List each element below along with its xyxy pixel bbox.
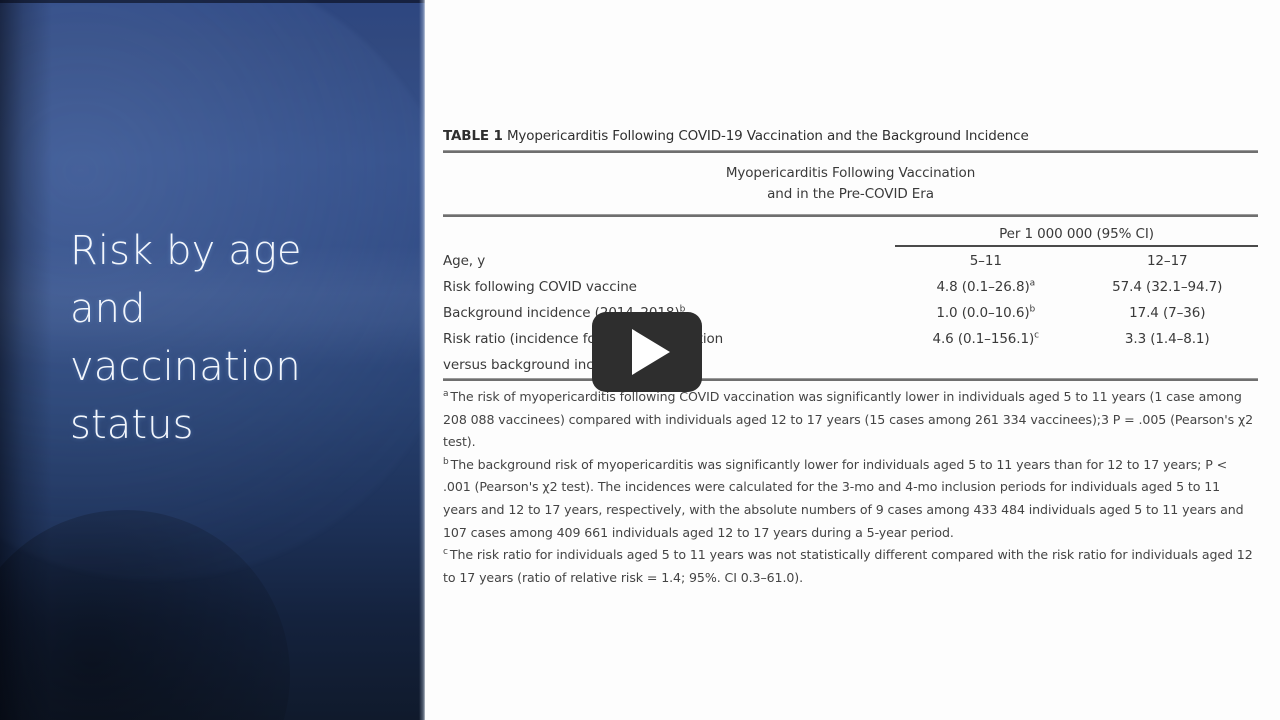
footnote-a-text: The risk of myopericarditis following CO…: [443, 389, 1253, 449]
cell-5-11: 4.6 (0.1–156.1)c: [895, 326, 1077, 352]
cell-12-17: 17.4 (7–36): [1077, 300, 1259, 326]
cell-value: 4.8 (0.1–26.8): [936, 279, 1029, 295]
footnote-mark-b: b: [443, 457, 449, 467]
cell-12-17: 57.4 (32.1–94.7): [1077, 274, 1259, 300]
table-row: Risk ratio (incidence following vaccinat…: [443, 326, 1258, 352]
table-caption-tag: TABLE 1: [443, 128, 503, 144]
cell-value: 17.4 (7–36): [1129, 305, 1205, 321]
table-group-header-row: Per 1 000 000 (95% CI): [443, 217, 1258, 248]
article-page-content: TABLE 1 Myopericarditis Following COVID-…: [443, 0, 1276, 720]
table-spanner-header: Myopericarditis Following Vaccination an…: [443, 153, 1258, 214]
cell-5-11: 1.0 (0.0–10.6)b: [895, 300, 1077, 326]
row-values-risk-following-vaccine: 4.8 (0.1–26.8)a 57.4 (32.1–94.7): [895, 274, 1258, 300]
slide-title-text: Risk by age and vaccination status: [70, 222, 370, 454]
group-header-label: Per 1 000 000 (95% CI): [895, 217, 1258, 245]
play-triangle-icon: [632, 329, 670, 375]
group-header-rule: [895, 245, 1258, 247]
results-table: TABLE 1 Myopericarditis Following COVID-…: [443, 126, 1258, 589]
table-row: Background incidence (2014–2018)b 1.0 (0…: [443, 300, 1258, 326]
cell-value: 4.6 (0.1–156.1): [932, 331, 1034, 347]
footnote-b: bThe background risk of myopericarditis …: [443, 454, 1258, 544]
row-values-risk-ratio: 4.6 (0.1–156.1)c 3.3 (1.4–8.1): [895, 326, 1258, 352]
footnote-ref-c: c: [1034, 331, 1039, 341]
column-header-5-11: 5–11: [895, 248, 1077, 274]
row-values-background-incidence: 1.0 (0.0–10.6)b 17.4 (7–36): [895, 300, 1258, 326]
group-header-spacer: [443, 217, 895, 248]
table-column-header-row: Age, y 5–11 12–17: [443, 248, 1258, 274]
table-caption-text: Myopericarditis Following COVID-19 Vacci…: [507, 128, 1029, 144]
table-row: Risk following COVID vaccine 4.8 (0.1–26…: [443, 274, 1258, 300]
row-values-empty: [895, 352, 1258, 378]
group-header-cell-wrap: Per 1 000 000 (95% CI): [895, 217, 1258, 248]
column-header-12-17: 12–17: [1077, 248, 1259, 274]
table-grid: Per 1 000 000 (95% CI) Age, y 5–11: [443, 217, 1258, 378]
table-footnotes: aThe risk of myopericarditis following C…: [443, 386, 1258, 589]
column-header-cells: 5–11 12–17: [895, 248, 1258, 274]
panel-top-rule: [0, 0, 425, 3]
table-row: versus background incidence): [443, 352, 1258, 378]
cell-12-17: 3.3 (1.4–8.1): [1077, 326, 1259, 352]
footnote-a: aThe risk of myopericarditis following C…: [443, 386, 1258, 454]
table-bottom-rule: [443, 378, 1258, 381]
footnote-ref-a: a: [1030, 279, 1035, 289]
table-caption: TABLE 1 Myopericarditis Following COVID-…: [443, 126, 1258, 150]
play-button[interactable]: [592, 312, 702, 392]
cell-value: 1.0 (0.0–10.6): [936, 305, 1029, 321]
video-player-frame[interactable]: Risk by age and vaccination status TABLE…: [0, 0, 1280, 720]
row-label-risk-following-vaccine: Risk following COVID vaccine: [443, 274, 895, 300]
spanner-line-1: Myopericarditis Following Vaccination: [443, 163, 1258, 184]
footnote-mark-a: a: [443, 389, 448, 399]
cell-value: 57.4 (32.1–94.7): [1112, 279, 1222, 295]
footnote-c: cThe risk ratio for individuals aged 5 t…: [443, 544, 1258, 589]
footnote-b-text: The background risk of myopericarditis w…: [443, 457, 1244, 540]
spanner-line-2: and in the Pre-COVID Era: [443, 184, 1258, 205]
cell-value: 3.3 (1.4–8.1): [1125, 331, 1210, 347]
stub-header: Age, y: [443, 248, 895, 274]
slide-title-panel: Risk by age and vaccination status: [0, 0, 425, 720]
footnote-mark-c: c: [443, 547, 448, 557]
footnote-ref-b: b: [1030, 305, 1036, 315]
footnote-c-text: The risk ratio for individuals aged 5 to…: [443, 547, 1253, 585]
cell-5-11: 4.8 (0.1–26.8)a: [895, 274, 1077, 300]
article-page: TABLE 1 Myopericarditis Following COVID-…: [425, 0, 1280, 720]
